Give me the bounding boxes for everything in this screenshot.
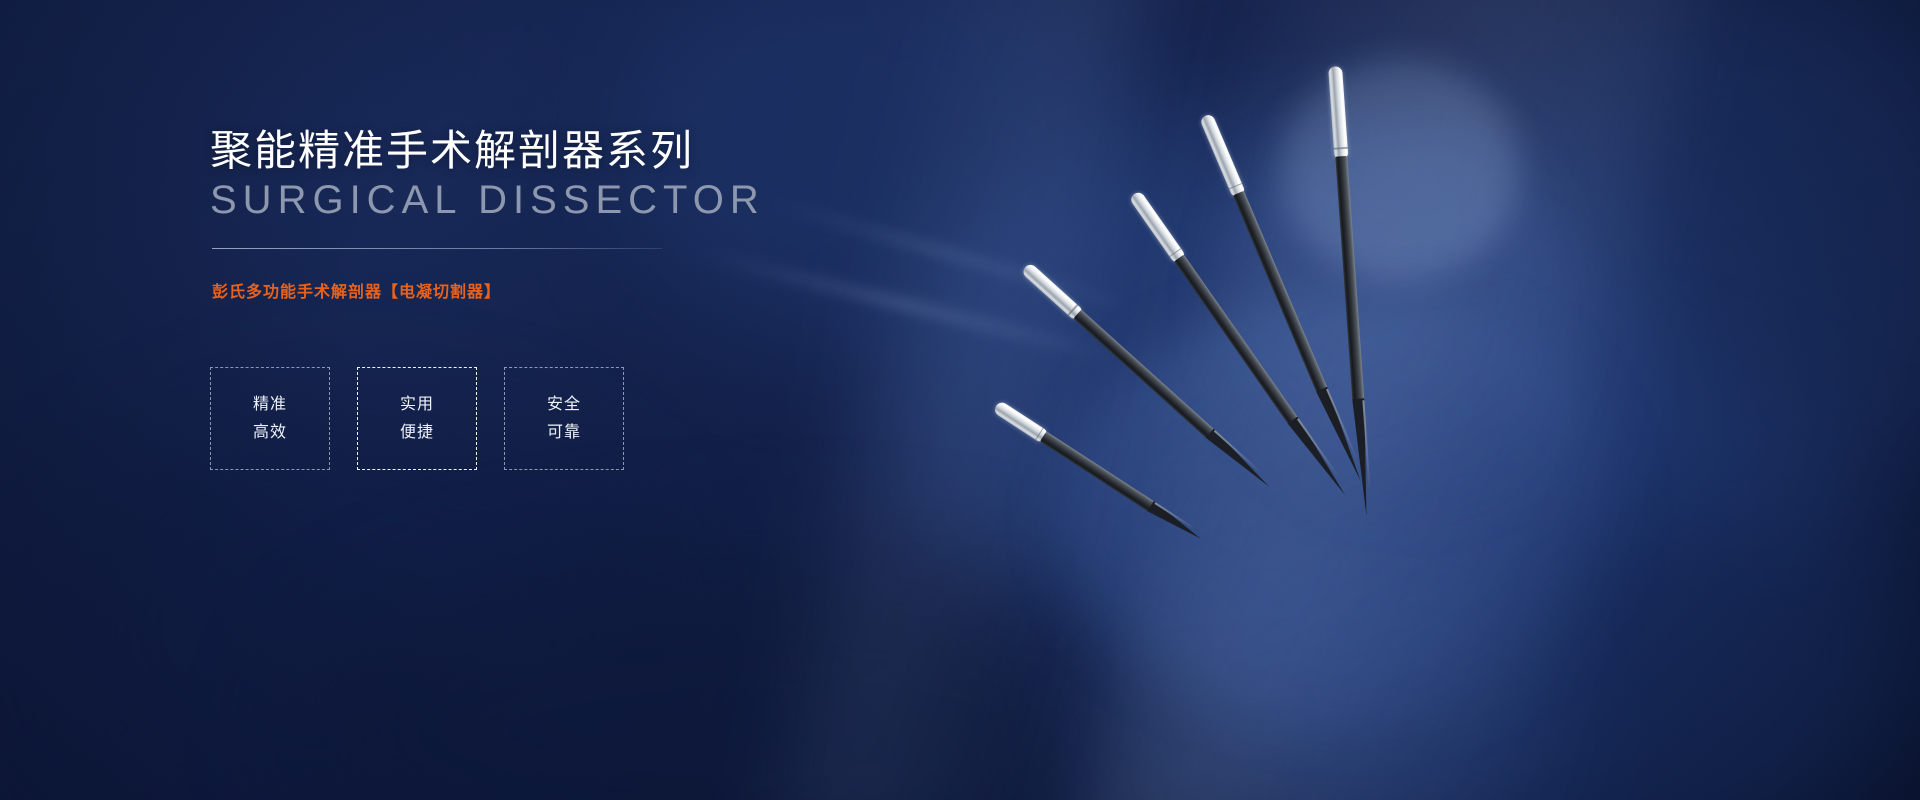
feature-box-precision[interactable]: 精准 高效 [210, 367, 330, 470]
feature-line-1: 精准 [253, 391, 287, 419]
product-highlight-glow [1280, 60, 1520, 280]
feature-line-1: 实用 [400, 391, 434, 419]
feature-line-2: 高效 [253, 419, 287, 447]
probe-metal-cap [1021, 262, 1084, 321]
feature-box-safety[interactable]: 安全 可靠 [504, 367, 624, 470]
page-subtitle-english: SURGICAL DISSECTOR [210, 178, 765, 222]
probe-tip [1147, 501, 1204, 544]
title-divider [212, 248, 662, 249]
probe-metal-cap [992, 400, 1048, 443]
hero-banner: 聚能精准手术解剖器系列 SURGICAL DISSECTOR 彭氏多功能手术解剖… [0, 0, 1920, 800]
feature-line-2: 便捷 [400, 419, 434, 447]
feature-line-2: 可靠 [547, 419, 581, 447]
product-name-label: 彭氏多功能手术解剖器【电凝切割器】 [212, 278, 501, 302]
probe-tip [1206, 429, 1273, 491]
probe-shaft [1073, 310, 1215, 439]
probe-shaft [1040, 431, 1156, 512]
page-title: 聚能精准手术解剖器系列 [210, 128, 694, 174]
product-image-surgical-dissectors [950, 0, 1510, 800]
probe-metal-cap [1129, 190, 1186, 264]
feature-box-group: 精准 高效 实用 便捷 安全 可靠 [210, 367, 624, 470]
banner-copy-block: 聚能精准手术解剖器系列 SURGICAL DISSECTOR 彭氏多功能手术解剖… [210, 0, 970, 800]
probe-metal-cap [1199, 113, 1245, 198]
feature-box-practical[interactable]: 实用 便捷 [357, 367, 477, 470]
feature-line-1: 安全 [547, 391, 581, 419]
